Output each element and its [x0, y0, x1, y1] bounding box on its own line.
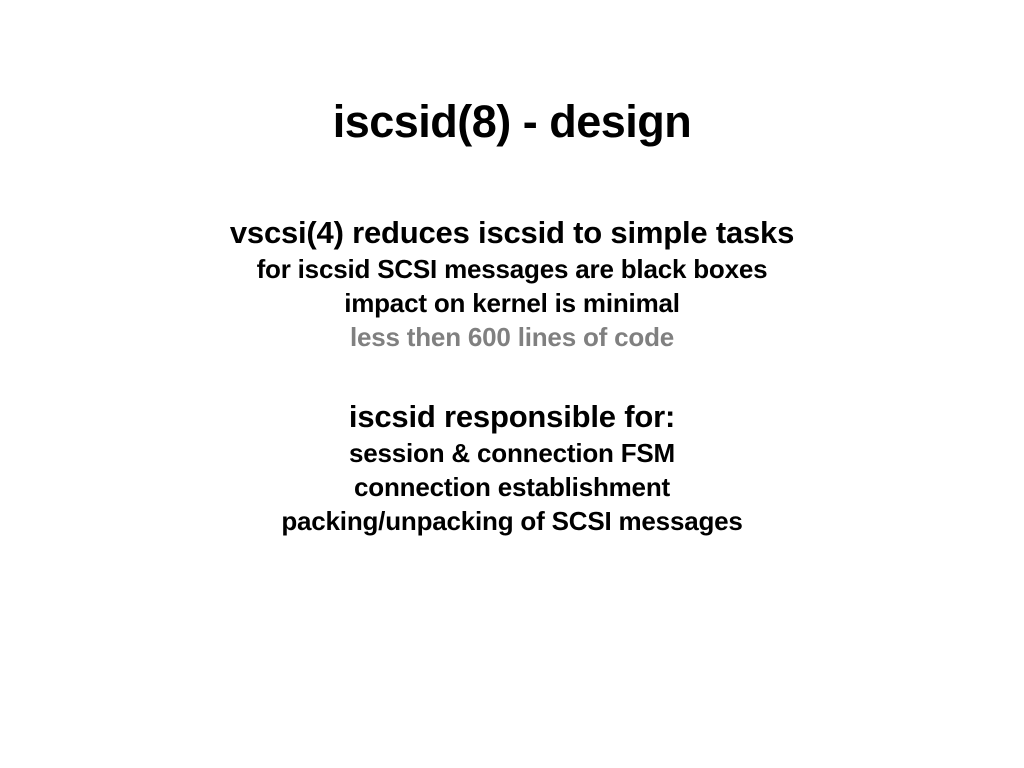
presentation-slide: iscsid(8) - design vscsi(4) reduces iscs… [0, 0, 1024, 768]
slide-title: iscsid(8) - design [0, 96, 1024, 148]
block-sub-line: session & connection FSM [0, 436, 1024, 470]
block-sub-line: for iscsid SCSI messages are black boxes [0, 252, 1024, 286]
block-sub-line: impact on kernel is minimal [0, 286, 1024, 320]
block-lead-line: iscsid responsible for: [0, 398, 1024, 436]
content-block-design: vscsi(4) reduces iscsid to simple tasks … [0, 214, 1024, 354]
block-sub-line-muted: less then 600 lines of code [0, 320, 1024, 354]
content-block-responsibilities: iscsid responsible for: session & connec… [0, 398, 1024, 538]
block-lead-line: vscsi(4) reduces iscsid to simple tasks [0, 214, 1024, 252]
slide-body: vscsi(4) reduces iscsid to simple tasks … [0, 214, 1024, 538]
block-sub-line: connection establishment [0, 470, 1024, 504]
block-sub-line: packing/unpacking of SCSI messages [0, 504, 1024, 538]
